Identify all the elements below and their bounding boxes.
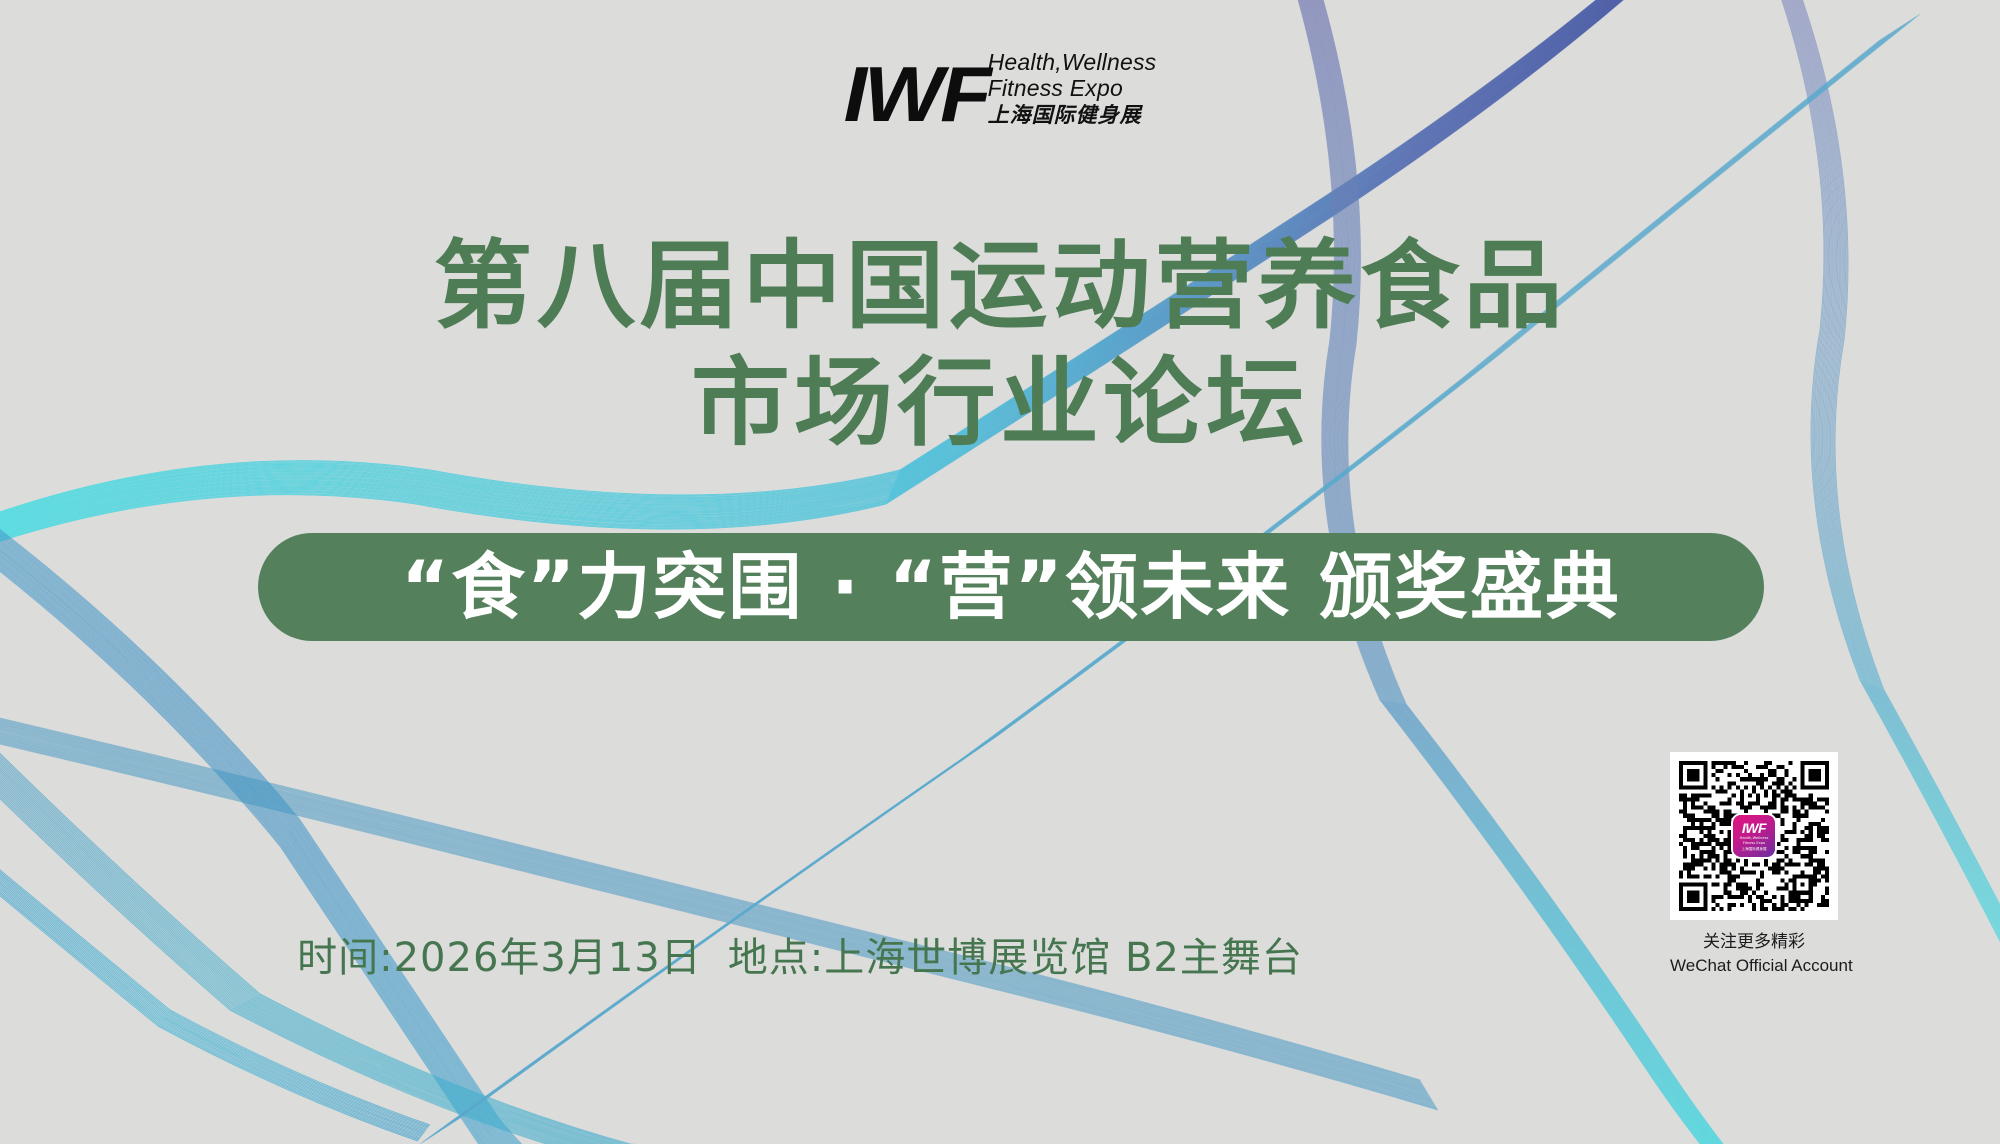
event-time-value: 2026年3月13日	[394, 935, 702, 981]
title-line-2: 市场行业论坛	[0, 345, 2000, 462]
theme-banner: “食”力突围 · “营”领未来 颁奖盛典	[258, 533, 1764, 641]
qr-center-logo-sub2: Fitness Expo	[1743, 841, 1765, 845]
title-line-1: 第八届中国运动营养食品	[0, 228, 2000, 345]
event-time-label: 时间:	[297, 935, 393, 981]
qr-caption-chinese: 关注更多精彩	[1670, 930, 1838, 954]
qr-code-frame[interactable]: IWF Health,Wellness Fitness Expo 上海国际健身展	[1670, 752, 1838, 920]
wechat-qr-block[interactable]: IWF Health,Wellness Fitness Expo 上海国际健身展…	[1670, 752, 1838, 978]
logo-tagline-chinese: 上海国际健身展	[988, 104, 1157, 128]
qr-caption-english: WeChat Official Account	[1670, 954, 1838, 978]
page-title: 第八届中国运动营养食品 市场行业论坛	[0, 228, 2000, 462]
event-place-label: 地点:	[728, 935, 824, 981]
logo-tagline-line1: Health,Wellness	[988, 50, 1157, 76]
logo-tagline-line2: Fitness Expo	[988, 76, 1157, 102]
poster-canvas: IWF Health,Wellness Fitness Expo 上海国际健身展…	[0, 0, 2000, 1144]
logo-tagline-group: Health,Wellness Fitness Expo 上海国际健身展	[988, 50, 1157, 131]
qr-center-logo: IWF Health,Wellness Fitness Expo 上海国际健身展	[1733, 815, 1775, 857]
qr-center-logo-sub1: Health,Wellness	[1740, 836, 1769, 840]
theme-banner-text: “食”力突围 · “营”领未来 颁奖盛典	[401, 551, 1621, 623]
event-place-value: 上海世博展览馆 B2主舞台	[824, 935, 1303, 981]
qr-center-logo-mark: IWF	[1742, 821, 1766, 835]
iwf-logo: IWF Health,Wellness Fitness Expo 上海国际健身展	[844, 50, 1157, 131]
qr-caption: 关注更多精彩 WeChat Official Account	[1670, 930, 1838, 978]
event-details: 时间:2026年3月13日地点:上海世博展览馆 B2主舞台	[0, 925, 1600, 983]
logo-wordmark: IWF	[844, 59, 989, 131]
qr-center-logo-sub3: 上海国际健身展	[1741, 847, 1766, 851]
